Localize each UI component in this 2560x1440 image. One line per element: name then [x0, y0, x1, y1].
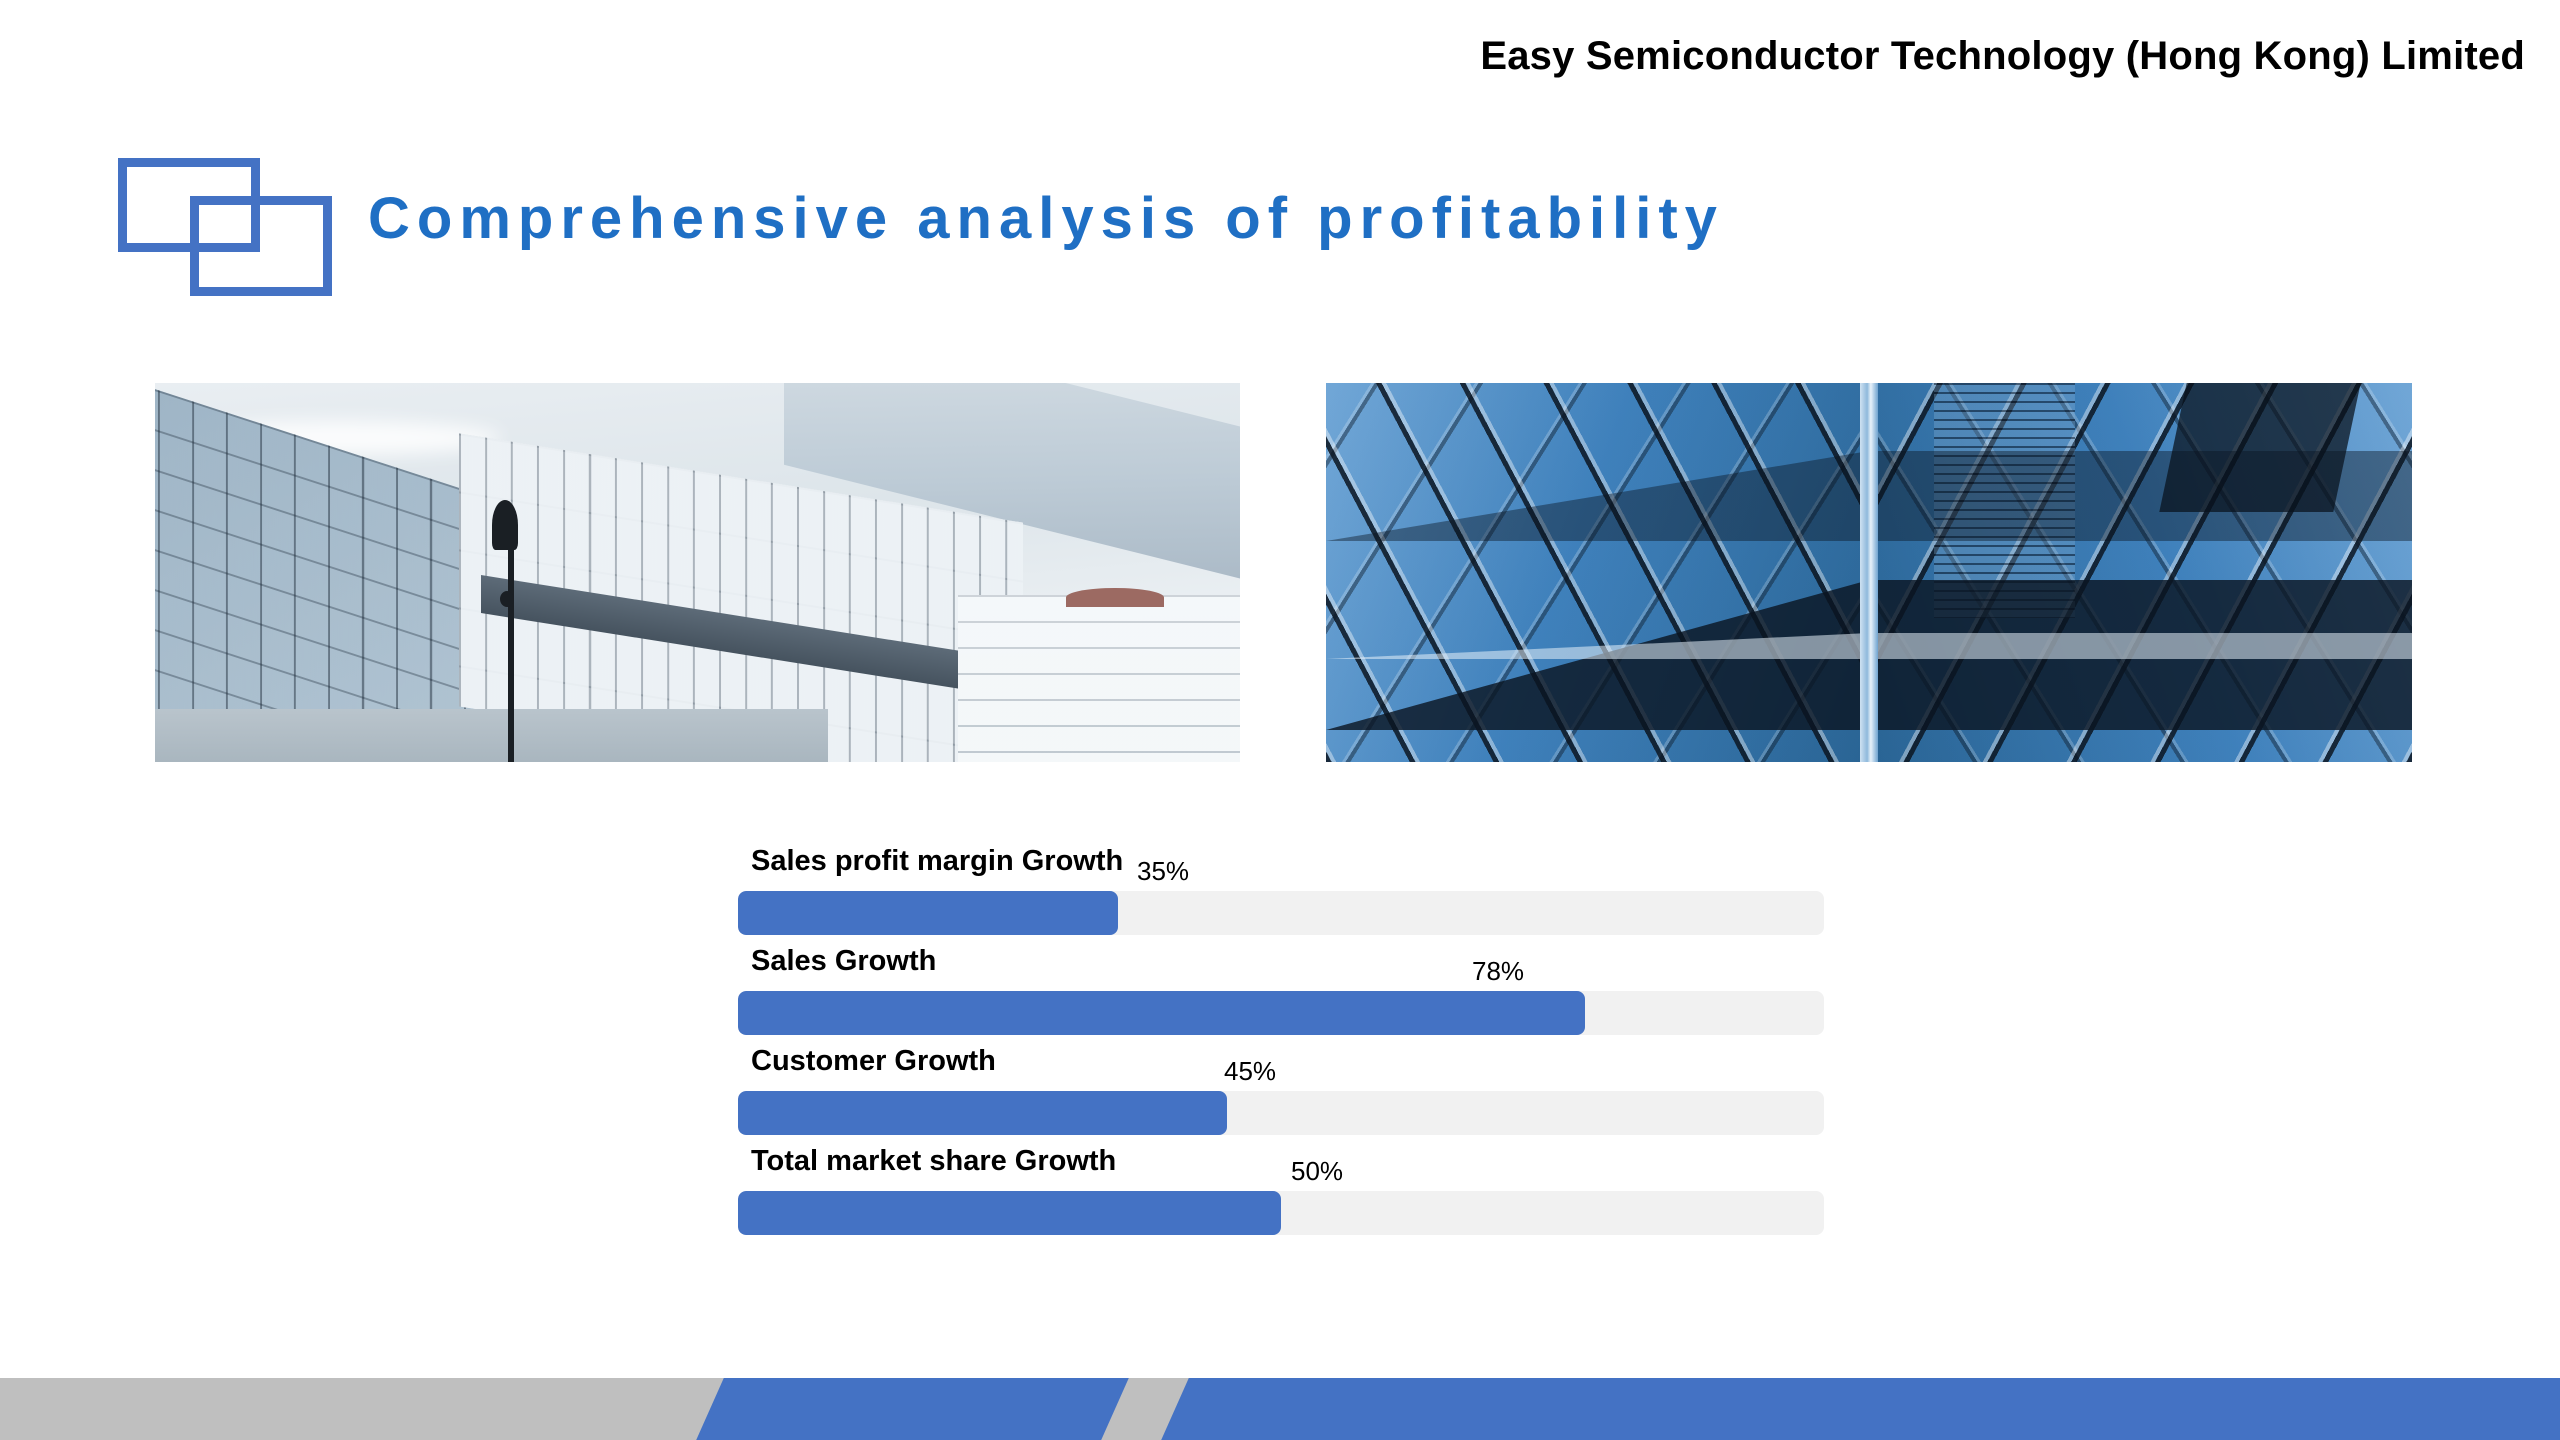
bar-fill — [738, 891, 1118, 935]
bar-header: Customer Growth 45% — [738, 1045, 1824, 1091]
bar-value: 50% — [1291, 1156, 1343, 1187]
footer-decoration-band — [0, 1378, 2560, 1440]
footer-blue-parallelogram — [1161, 1378, 2560, 1440]
bar-header: Total market share Growth 50% — [738, 1145, 1824, 1191]
photo-concrete-base — [155, 709, 828, 762]
bar-fill — [738, 991, 1585, 1035]
bar-fill — [738, 1191, 1281, 1235]
blue-skyscraper-photo — [1326, 383, 2412, 762]
photo-building-corner-spine — [1860, 383, 1877, 762]
bar-row: Customer Growth 45% — [738, 1045, 1824, 1145]
footer-blue-parallelogram — [696, 1378, 1129, 1440]
bar-track — [738, 1091, 1824, 1135]
bar-value: 35% — [1137, 856, 1189, 887]
photo-street-lamp-head — [492, 500, 518, 550]
page-title: Comprehensive analysis of profitability — [368, 185, 1724, 252]
modern-glass-building-photo — [155, 383, 1240, 762]
bar-track — [738, 1191, 1824, 1235]
bar-fill — [738, 1091, 1227, 1135]
bar-label: Total market share Growth — [751, 1145, 1116, 1178]
bar-row: Total market share Growth 50% — [738, 1145, 1824, 1245]
photo-background-building — [958, 595, 1240, 762]
bar-label: Sales profit margin Growth — [751, 845, 1123, 878]
bar-label: Customer Growth — [751, 1045, 996, 1078]
photo-street-lamp-pole — [508, 519, 514, 762]
photo-red-roof — [1066, 588, 1164, 607]
bar-header: Sales profit margin Growth 35% — [738, 845, 1824, 891]
bar-row: Sales profit margin Growth 35% — [738, 845, 1824, 945]
bar-value: 45% — [1224, 1056, 1276, 1087]
growth-bar-chart: Sales profit margin Growth 35% Sales Gro… — [738, 845, 1824, 1245]
bar-row: Sales Growth 78% — [738, 945, 1824, 1045]
bar-track — [738, 891, 1824, 935]
company-header: Easy Semiconductor Technology (Hong Kong… — [1480, 34, 2525, 79]
bar-track — [738, 991, 1824, 1035]
logo — [118, 158, 350, 300]
logo-rectangle-front — [190, 196, 332, 296]
bar-label: Sales Growth — [751, 945, 936, 978]
bar-value: 78% — [1472, 956, 1524, 987]
bar-header: Sales Growth 78% — [738, 945, 1824, 991]
